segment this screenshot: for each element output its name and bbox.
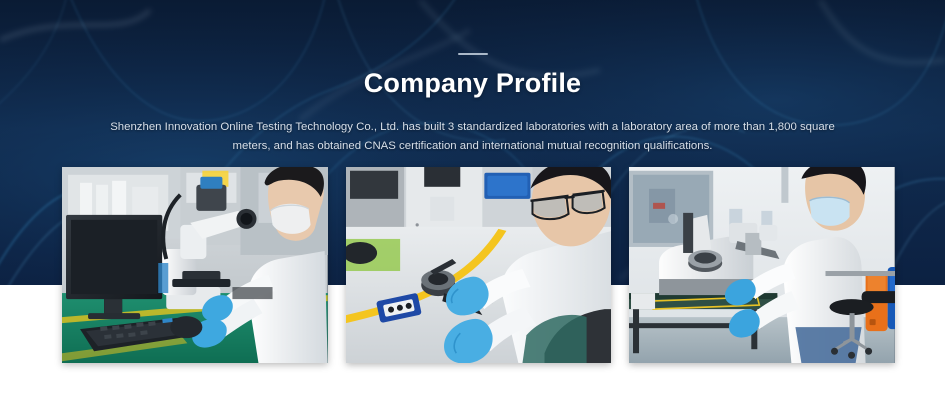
- gallery-photo-1[interactable]: [62, 167, 328, 363]
- cleanroom-instrument-photo: [629, 167, 895, 363]
- title-divider: [458, 53, 488, 55]
- gallery-photo-3[interactable]: [629, 167, 895, 363]
- company-intro-paragraph: Shenzhen Innovation Online Testing Techn…: [108, 118, 838, 157]
- component-inspection-photo: [346, 167, 612, 363]
- page-title: Company Profile: [0, 69, 945, 99]
- microscope-lab-photo: [62, 167, 328, 363]
- gallery-photo-2[interactable]: [346, 167, 612, 363]
- photo-gallery: [62, 167, 895, 363]
- heading-block: Company Profile Shenzhen Innovation Onli…: [0, 0, 945, 157]
